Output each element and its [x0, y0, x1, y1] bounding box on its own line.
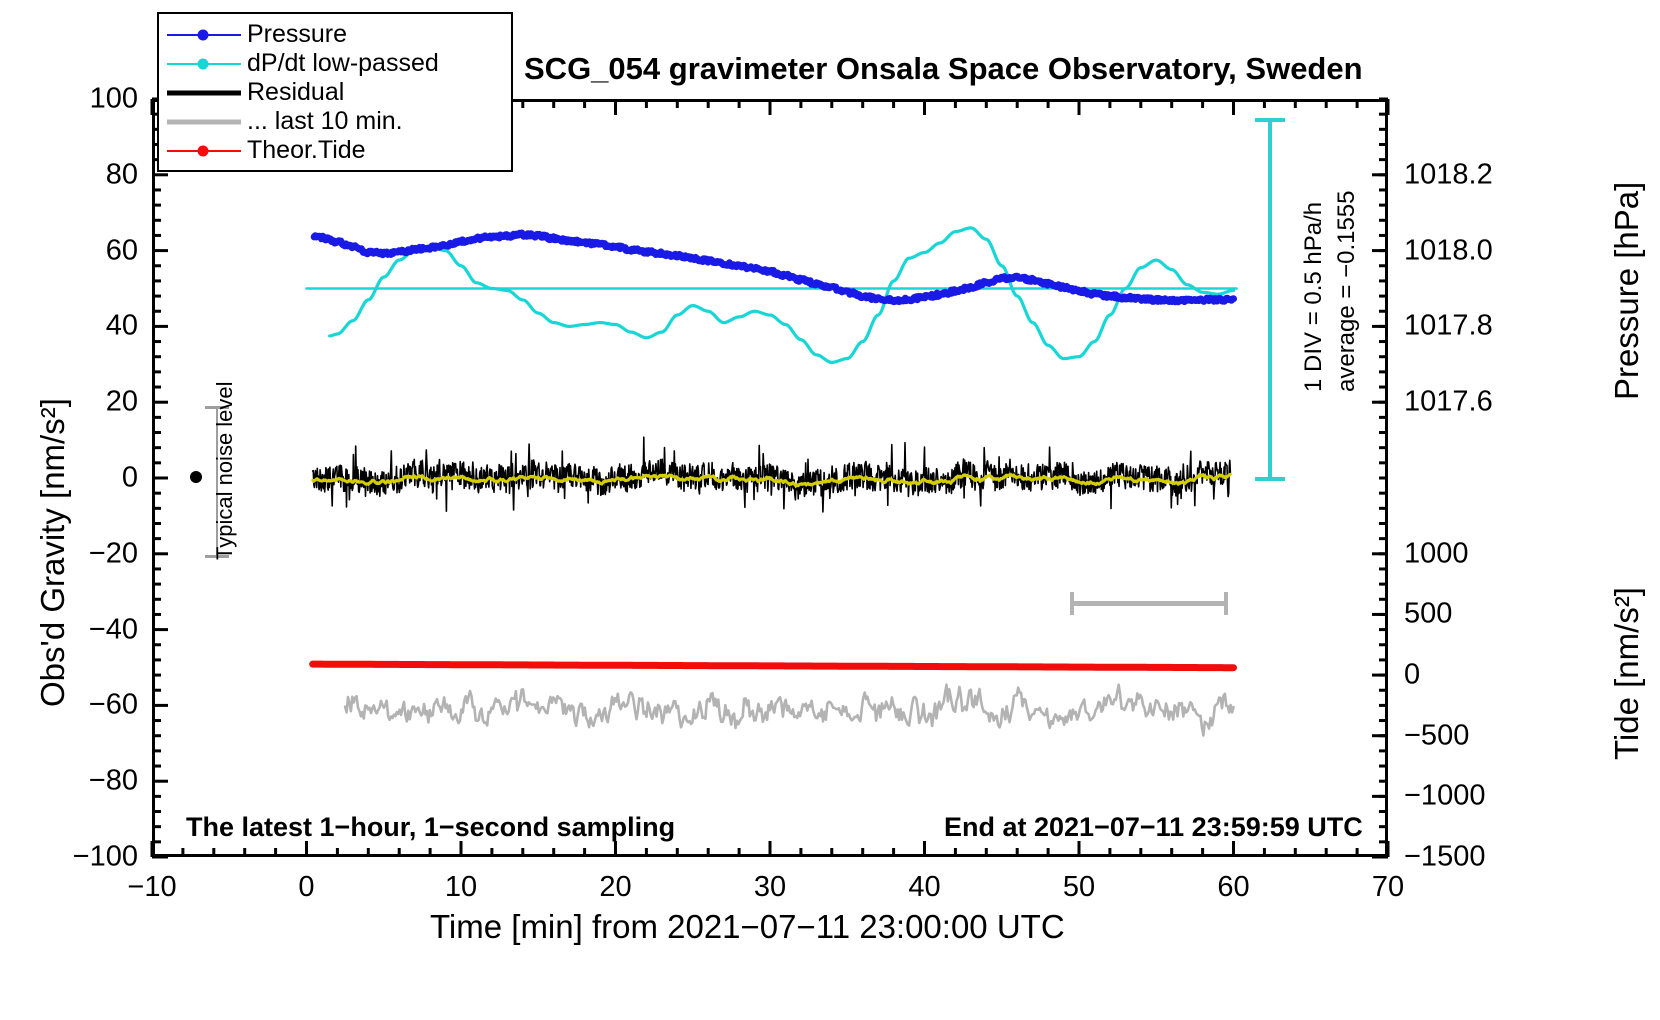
legend-item-last10[interactable]: ... last 10 min. [159, 107, 511, 136]
tide-tick-1000: 1000 [1404, 537, 1469, 570]
x-tick-50: 50 [1063, 871, 1095, 904]
y-tick--80: −80 [30, 765, 138, 798]
legend-item-dpdt[interactable]: dP/dt low-passed [159, 49, 511, 78]
legend-swatch-last10 [159, 107, 247, 136]
dpdt-scale-average-label: average = −0.1555 [1333, 190, 1361, 392]
typical-noise-level-label: Typical noise level [212, 381, 238, 560]
bottom-right-note: End at 2021−07−11 23:59:59 UTC [944, 812, 1363, 843]
x-tick-0: 0 [298, 871, 314, 904]
bottom-left-note: The latest 1−hour, 1−second sampling [186, 812, 675, 843]
legend-label-last10: ... last 10 min. [247, 107, 403, 136]
tide-tick-0: 0 [1404, 659, 1420, 692]
y-tick-80: 80 [30, 158, 138, 191]
x-axis-title: Time [min] from 2021−07−11 23:00:00 UTC [430, 908, 1065, 946]
pressure-tick-1017.6: 1017.6 [1404, 386, 1493, 419]
x-tick-10: 10 [445, 871, 477, 904]
pressure-tick-1018.2: 1018.2 [1404, 158, 1493, 191]
tide-tick-−500: −500 [1404, 719, 1469, 752]
x-tick--10: −10 [127, 871, 176, 904]
right-axis-title-tide: Tide [nm/s²] [1608, 587, 1646, 760]
legend-label-theortide: Theor.Tide [247, 136, 366, 165]
x-tick-60: 60 [1217, 871, 1249, 904]
legend: Pressure dP/dt low-passed Residual ... l… [157, 12, 513, 172]
x-tick-30: 30 [754, 871, 786, 904]
y-tick-100: 100 [30, 83, 138, 116]
legend-swatch-dpdt [159, 49, 247, 78]
legend-swatch-residual [159, 78, 247, 107]
legend-item-pressure[interactable]: Pressure [159, 20, 511, 49]
page-title: SCG_054 gravimeter Onsala Space Observat… [524, 51, 1363, 87]
pressure-tick-1017.8: 1017.8 [1404, 310, 1493, 343]
x-tick-20: 20 [599, 871, 631, 904]
series-pressure [314, 233, 1233, 302]
y-tick--100: −100 [30, 841, 138, 874]
typical-noise-level-dot [190, 471, 202, 483]
x-tick-70: 70 [1372, 871, 1404, 904]
y-axis-title: Obs'd Gravity [nm/s²] [34, 398, 72, 707]
series-last-10-min [345, 685, 1233, 736]
legend-item-residual[interactable]: Residual [159, 78, 511, 107]
legend-item-theortide[interactable]: Theor.Tide [159, 136, 511, 165]
y-tick-60: 60 [30, 234, 138, 267]
legend-label-pressure: Pressure [247, 20, 347, 49]
pressure-tick-1018.0: 1018.0 [1404, 234, 1493, 267]
series-theor-tide [313, 664, 1234, 668]
dpdt-scale-div-label: 1 DIV = 0.5 hPa/h [1300, 202, 1328, 392]
legend-swatch-pressure [159, 20, 247, 49]
tide-tick-500: 500 [1404, 598, 1452, 631]
legend-label-residual: Residual [247, 78, 344, 107]
right-axis-title-pressure: Pressure [hPa] [1608, 182, 1646, 400]
legend-label-dpdt: dP/dt low-passed [247, 49, 439, 78]
x-tick-40: 40 [908, 871, 940, 904]
legend-swatch-theortide [159, 136, 247, 165]
last-10-min-window-bar [1070, 601, 1228, 606]
y-tick-40: 40 [30, 310, 138, 343]
tide-tick-−1000: −1000 [1404, 780, 1485, 813]
series-residual [313, 437, 1231, 512]
dpdt-scale-bar [1268, 118, 1272, 481]
tide-tick-−1500: −1500 [1404, 841, 1485, 874]
